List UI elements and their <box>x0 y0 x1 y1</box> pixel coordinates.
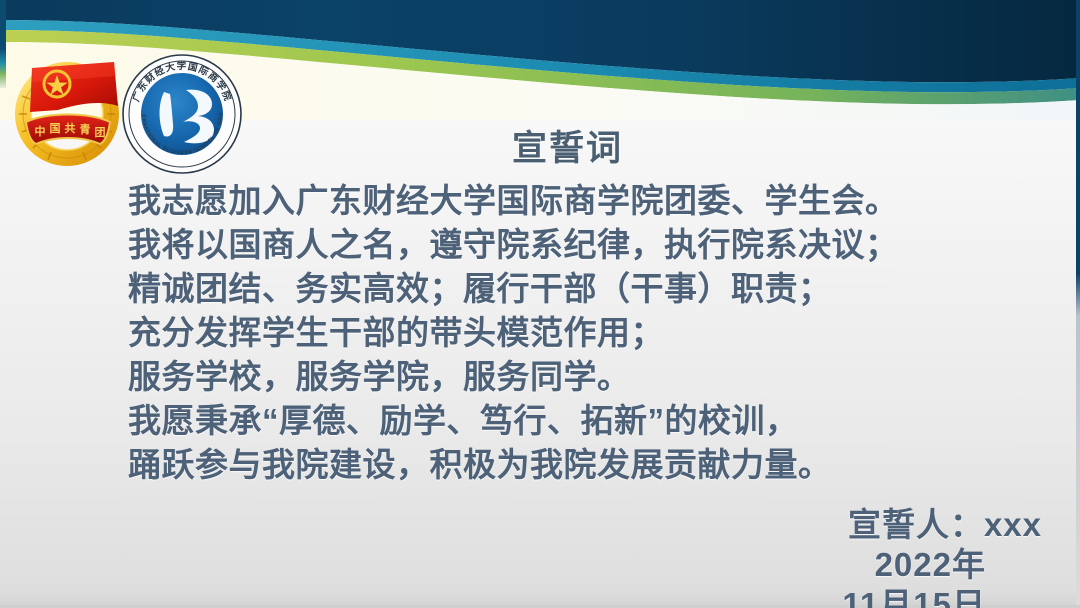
signer-label: 宣誓人： <box>848 506 984 543</box>
oath-line: 充分发挥学生干部的带头模范作用； <box>128 311 1080 355</box>
slide-canvas: 中 国 共 青 团 <box>0 0 1080 608</box>
oath-line: 我志愿加入广东财经大学国际商学院团委、学生会。 <box>128 179 1080 223</box>
oath-card: 宣誓词 我志愿加入广东财经大学国际商学院团委、学生会。 我将以国商人之名，遵守院… <box>0 125 1080 487</box>
signer-line: 宣誓人：xxx <box>638 505 1058 545</box>
signer-name: xxx <box>984 506 1042 543</box>
oath-title: 宣誓词 <box>55 125 1080 173</box>
oath-line-list: 我志愿加入广东财经大学国际商学院团委、学生会。 我将以国商人之名，遵守院系纪律，… <box>0 179 1080 487</box>
oath-line: 我将以国商人之名，遵守院系纪律，执行院系决议； <box>128 223 1080 267</box>
signature-year: 2022年 <box>638 545 1058 585</box>
oath-line: 精诚团结、务实高效；履行干部（干事）职责； <box>128 267 1080 311</box>
signature-date: 11月15日 <box>638 585 1058 608</box>
banner-left-edge-strip <box>0 0 6 88</box>
oath-line: 我愿秉承“厚德、励学、笃行、拓新”的校训， <box>128 399 1080 443</box>
oath-line: 踊跃参与我院建设，积极为我院发展贡献力量。 <box>128 443 1080 487</box>
signature-block: 宣誓人：xxx 2022年 11月15日 <box>638 505 1058 608</box>
oath-line: 服务学校，服务学院，服务同学。 <box>128 355 1080 399</box>
